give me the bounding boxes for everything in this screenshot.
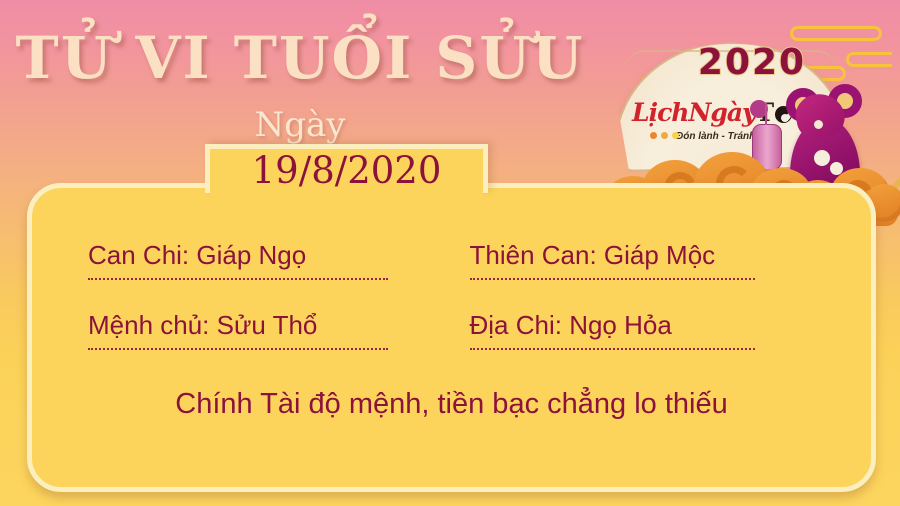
field-can-chi: Can Chi: Giáp Ngọ [70,240,452,280]
horoscope-card: 19/8/2020 Can Chi: Giáp Ngọ Thiên Can: G… [27,183,876,492]
cloud-stripe-icon [726,66,846,81]
dot-icon [661,132,668,139]
year-text: 2020 [662,42,842,83]
logo-tagline: Đón lành - Tránh dữ [676,131,832,142]
summary-text: Chính Tài độ mệnh, tiền bạc chẳng lo thi… [32,388,871,421]
header-block: TỬ VI TUỔI SỬU Ngày [0,28,600,145]
logo-lich: Lịch [632,98,688,127]
lantern-icon [752,124,782,170]
rat-ear-icon [828,84,862,118]
fan-shape [613,40,849,172]
cloud-stripe-icon [776,104,836,119]
date-value: 19/8/2020 [205,146,488,194]
lantern-cap-icon [750,100,768,118]
field-thien-can: Thiên Can: Giáp Mộc [452,240,834,280]
logo-domain: .com [812,111,838,124]
dot-icon [672,132,679,139]
field-label: Địa Chi: Ngọ Hỏa [470,310,755,350]
cloud-stripe-icon [704,108,750,123]
dot-icon [650,132,657,139]
field-dia-chi: Địa Chi: Ngọ Hỏa [452,310,834,350]
cloud-stripe-icon [846,52,892,67]
rat-head-icon [792,89,848,142]
cloud-stripe-icon [790,26,882,41]
cloud-stripe-icon [642,78,712,93]
rat-eye-icon [814,120,823,129]
field-grid: Can Chi: Giáp Ngọ Thiên Can: Giáp Mộc Mệ… [32,240,871,380]
field-label: Mệnh chủ: Sửu Thổ [88,310,388,350]
site-logo-text: LịchNgàyTT.com [632,98,832,127]
date-label: Ngày [0,105,600,145]
flower-icon [814,150,830,166]
field-menh-chu: Mệnh chủ: Sửu Thổ [70,310,452,350]
fan-rim [624,50,838,72]
site-logo[interactable]: LịchNgàyTT.com Đón lành - Tránh dữ [632,98,832,138]
logo-t1: T [756,98,775,127]
logo-ngay: Ngày [688,98,755,127]
yin-yang-icon [775,106,792,123]
rat-ear-icon [786,88,820,122]
page-title: TỬ VI TUỔI SỬU [0,28,600,89]
flower-icon [830,162,843,175]
field-label: Can Chi: Giáp Ngọ [88,240,388,280]
logo-dots [650,126,683,144]
logo-t2: T [793,98,812,127]
field-label: Thiên Can: Giáp Mộc [470,240,755,280]
